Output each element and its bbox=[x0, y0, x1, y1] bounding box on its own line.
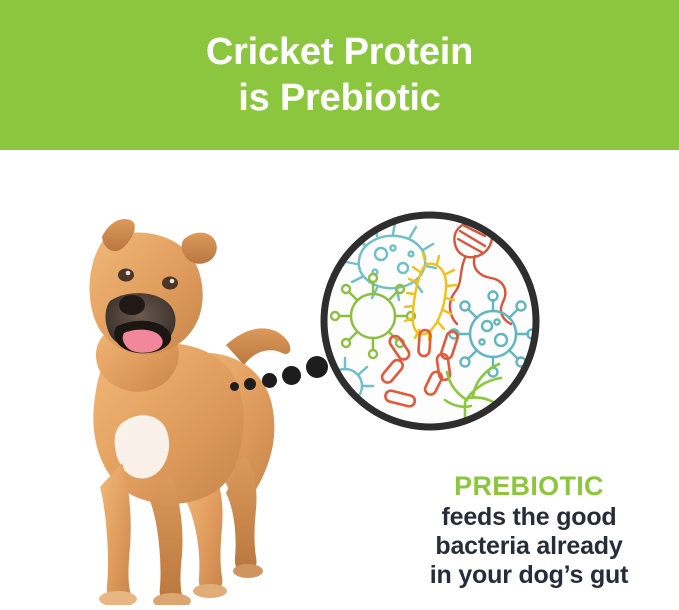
dog-head bbox=[90, 219, 217, 355]
banner-headline-line-2: is Prebiotic bbox=[238, 75, 440, 121]
dog-paw-3 bbox=[193, 584, 227, 598]
banner-divider bbox=[0, 150, 679, 153]
dog-paw-2 bbox=[153, 593, 191, 605]
gut-microbiome-bubble bbox=[315, 206, 545, 436]
dog-eye-right bbox=[162, 277, 178, 290]
dog-front-leg-near bbox=[100, 463, 131, 602]
caption-kicker: PREBIOTIC bbox=[389, 470, 669, 502]
trail-dot-1 bbox=[230, 382, 239, 391]
dog-eye-left bbox=[118, 269, 134, 282]
caption-body: feeds the good bacteria already in your … bbox=[389, 503, 669, 590]
dog-paw-1 bbox=[99, 591, 137, 605]
dog-paw-4 bbox=[233, 564, 263, 578]
trail-dot-4 bbox=[282, 366, 301, 385]
caption-block: PREBIOTIC feeds the good bacteria alread… bbox=[389, 470, 669, 590]
trail-dot-2 bbox=[244, 378, 256, 390]
header-banner: Cricket Protein is Prebiotic bbox=[0, 0, 679, 150]
dog-photo bbox=[58, 205, 333, 605]
banner-headline-line-1: Cricket Protein bbox=[206, 29, 473, 75]
caption-line-3: in your dog’s gut bbox=[389, 561, 669, 590]
poster-canvas: Cricket Protein is Prebiotic bbox=[0, 0, 679, 610]
dog-nose bbox=[119, 295, 145, 315]
caption-line-2: bacteria already bbox=[389, 532, 669, 561]
caption-line-1: feeds the good bbox=[389, 503, 669, 532]
trail-dot-3 bbox=[262, 373, 277, 388]
